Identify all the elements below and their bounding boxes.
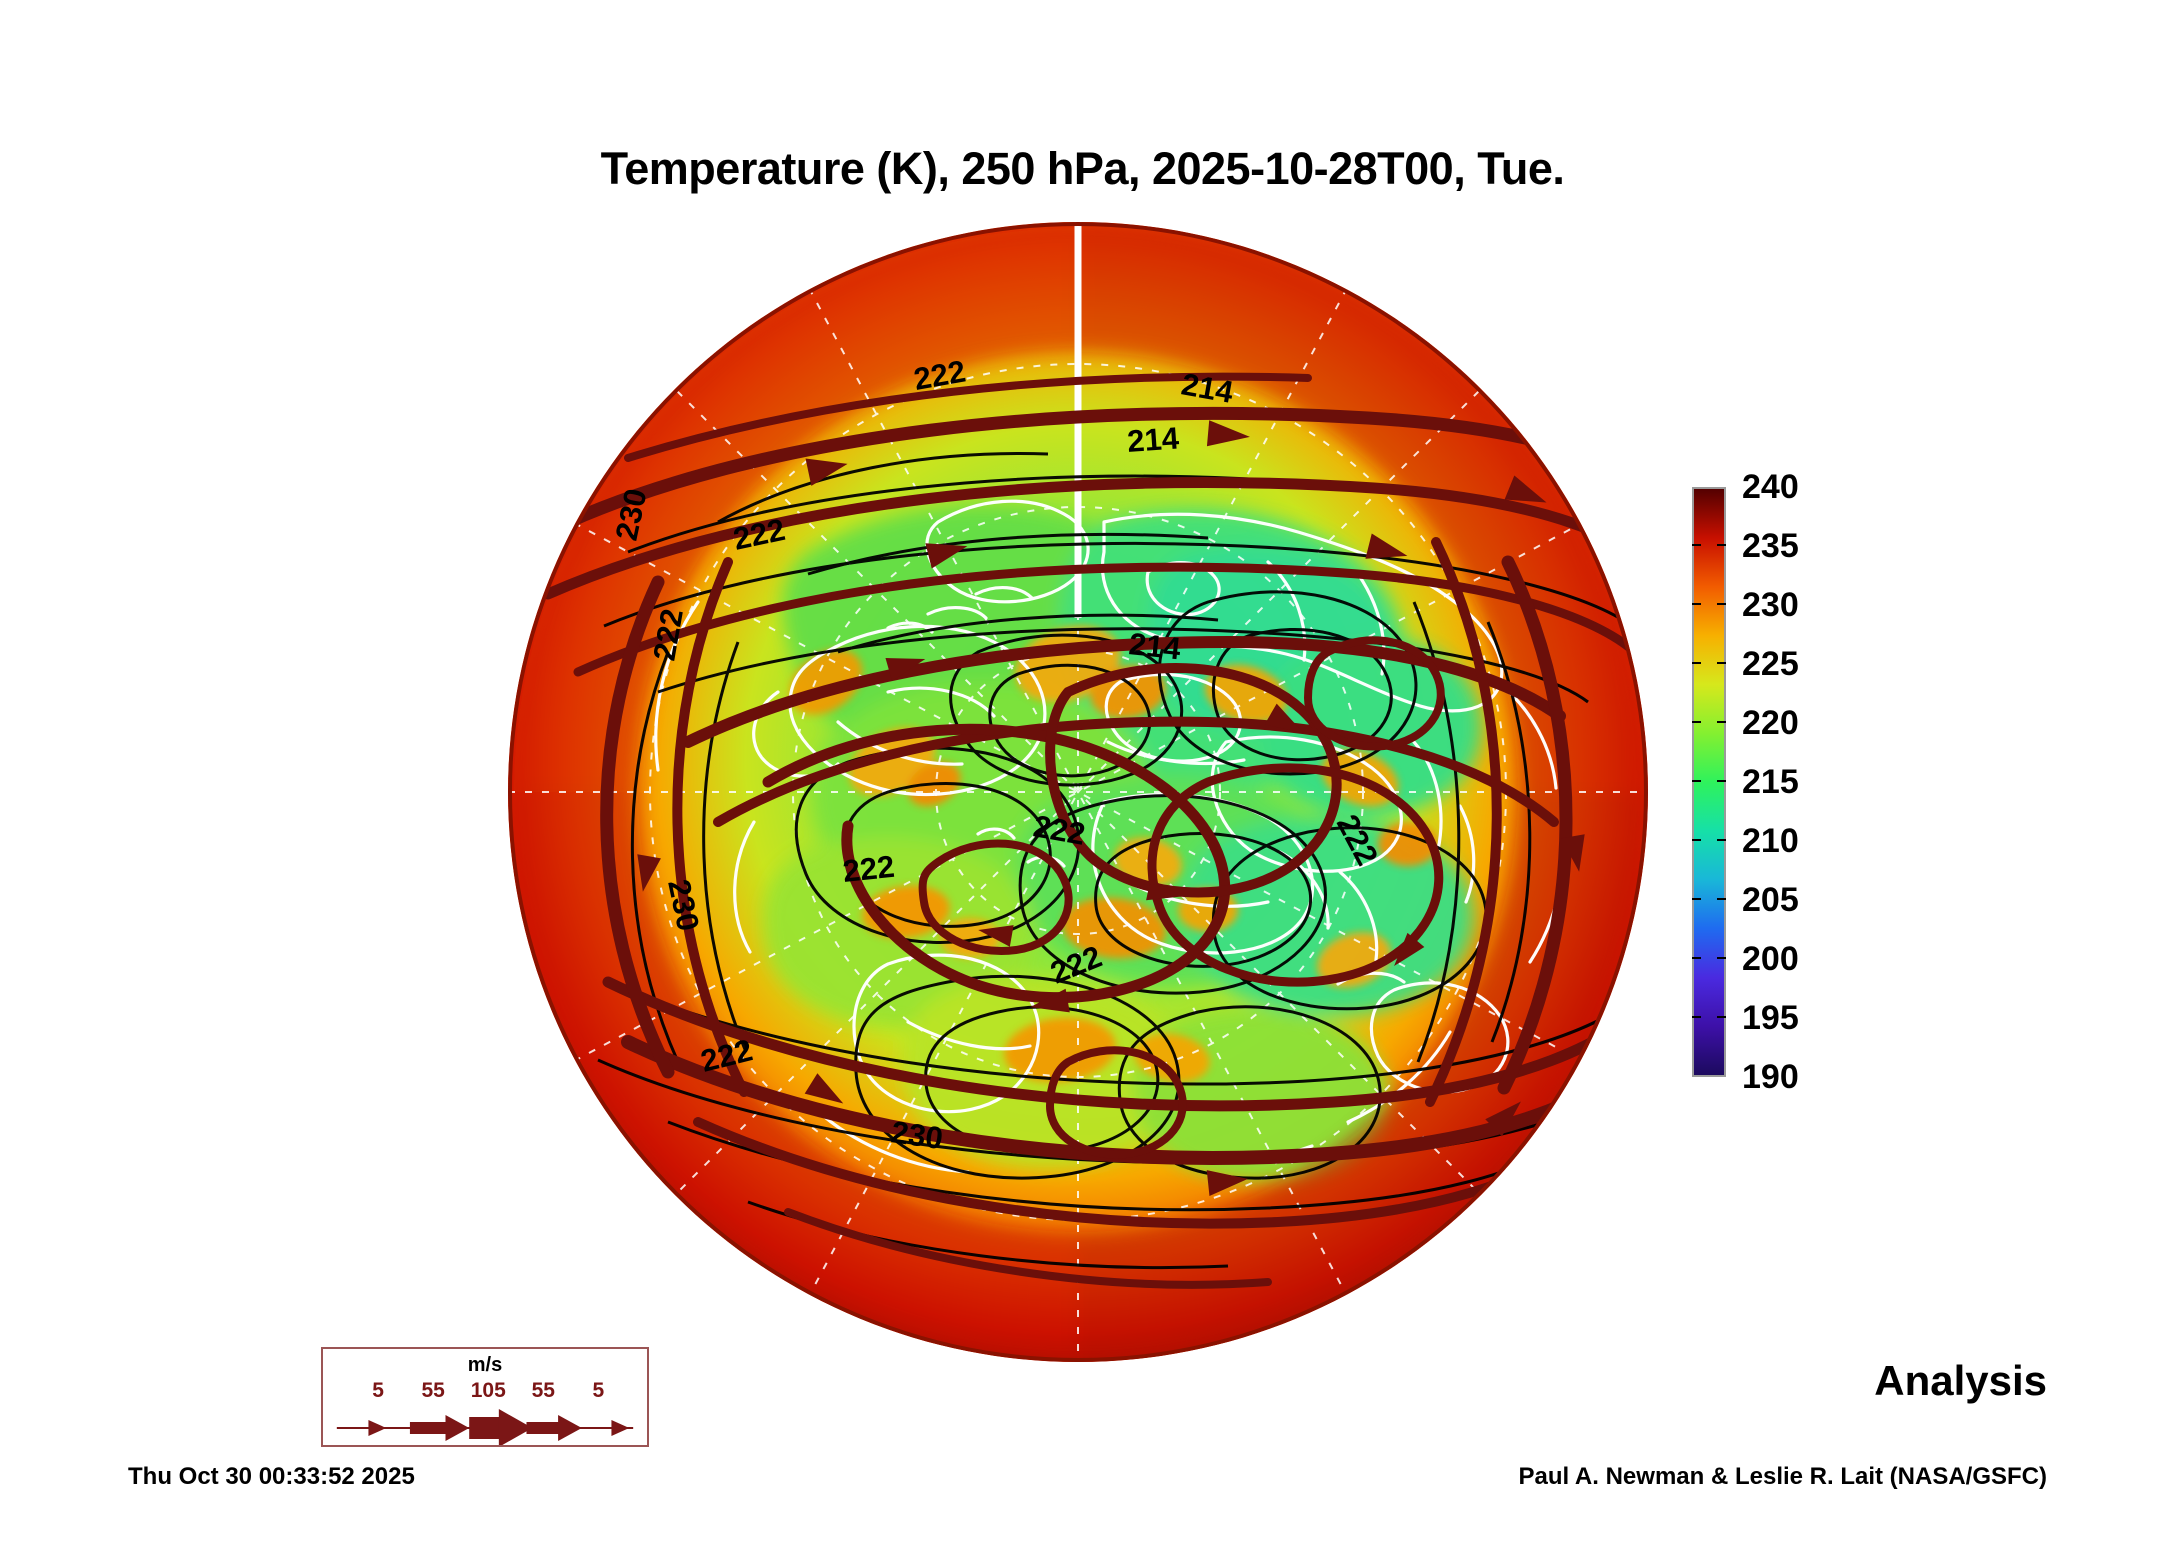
- globe-svg: 230 230 222 222 214 214 230 222 222 214 …: [508, 222, 1648, 1362]
- wind-value-label: 105: [471, 1379, 506, 1403]
- colorbar-tick-label: 200: [1742, 942, 1799, 976]
- page-title: Temperature (K), 250 hPa, 2025-10-28T00,…: [0, 143, 2165, 195]
- svg-text:230: 230: [713, 244, 772, 290]
- colorbar-tick-label: 195: [1742, 1001, 1799, 1035]
- colorbar-labels: 240235230225220215210205200195190: [1742, 487, 1892, 1077]
- colorbar-tick-label: 220: [1742, 706, 1799, 740]
- wind-value-label: 55: [532, 1379, 555, 1403]
- temperature-globe: 230 230 222 222 214 214 230 222 222 214 …: [508, 222, 1648, 1362]
- wind-value-label: 55: [421, 1379, 444, 1403]
- colorbar-tick-label: 235: [1742, 529, 1799, 563]
- svg-text:230: 230: [889, 1114, 945, 1156]
- colorbar-ticks: [1692, 487, 1726, 1077]
- colorbar-tick-label: 190: [1742, 1060, 1799, 1094]
- colorbar-tick-label: 225: [1742, 647, 1799, 681]
- generation-timestamp: Thu Oct 30 00:33:52 2025: [128, 1463, 415, 1491]
- colorbar-tick-label: 215: [1742, 765, 1799, 799]
- colorbar-tick-label: 210: [1742, 824, 1799, 858]
- author-credit: Paul A. Newman & Leslie R. Lait (NASA/GS…: [1518, 1463, 2047, 1491]
- wind-value-label: 5: [593, 1379, 605, 1403]
- analysis-label: Analysis: [1874, 1357, 2047, 1405]
- svg-text:214: 214: [1127, 626, 1183, 666]
- colorbar-tick-label: 230: [1742, 588, 1799, 622]
- colorbar-tick-label: 205: [1742, 883, 1799, 917]
- wind-speed-legend: m/s 555105555: [321, 1347, 649, 1447]
- wind-value-label: 5: [372, 1379, 384, 1403]
- polar-map-panel: 230 230 222 222 214 214 230 222 222 214 …: [508, 222, 1648, 1362]
- wind-value-labels: 555105555: [323, 1379, 647, 1405]
- wind-arrow-svg: [323, 1407, 647, 1445]
- svg-text:222: 222: [841, 849, 896, 889]
- svg-text:214: 214: [1126, 420, 1181, 459]
- wind-arrow-scale: [323, 1407, 647, 1445]
- wind-unit-label: m/s: [323, 1354, 647, 1377]
- colorbar-tick-label: 240: [1742, 470, 1799, 504]
